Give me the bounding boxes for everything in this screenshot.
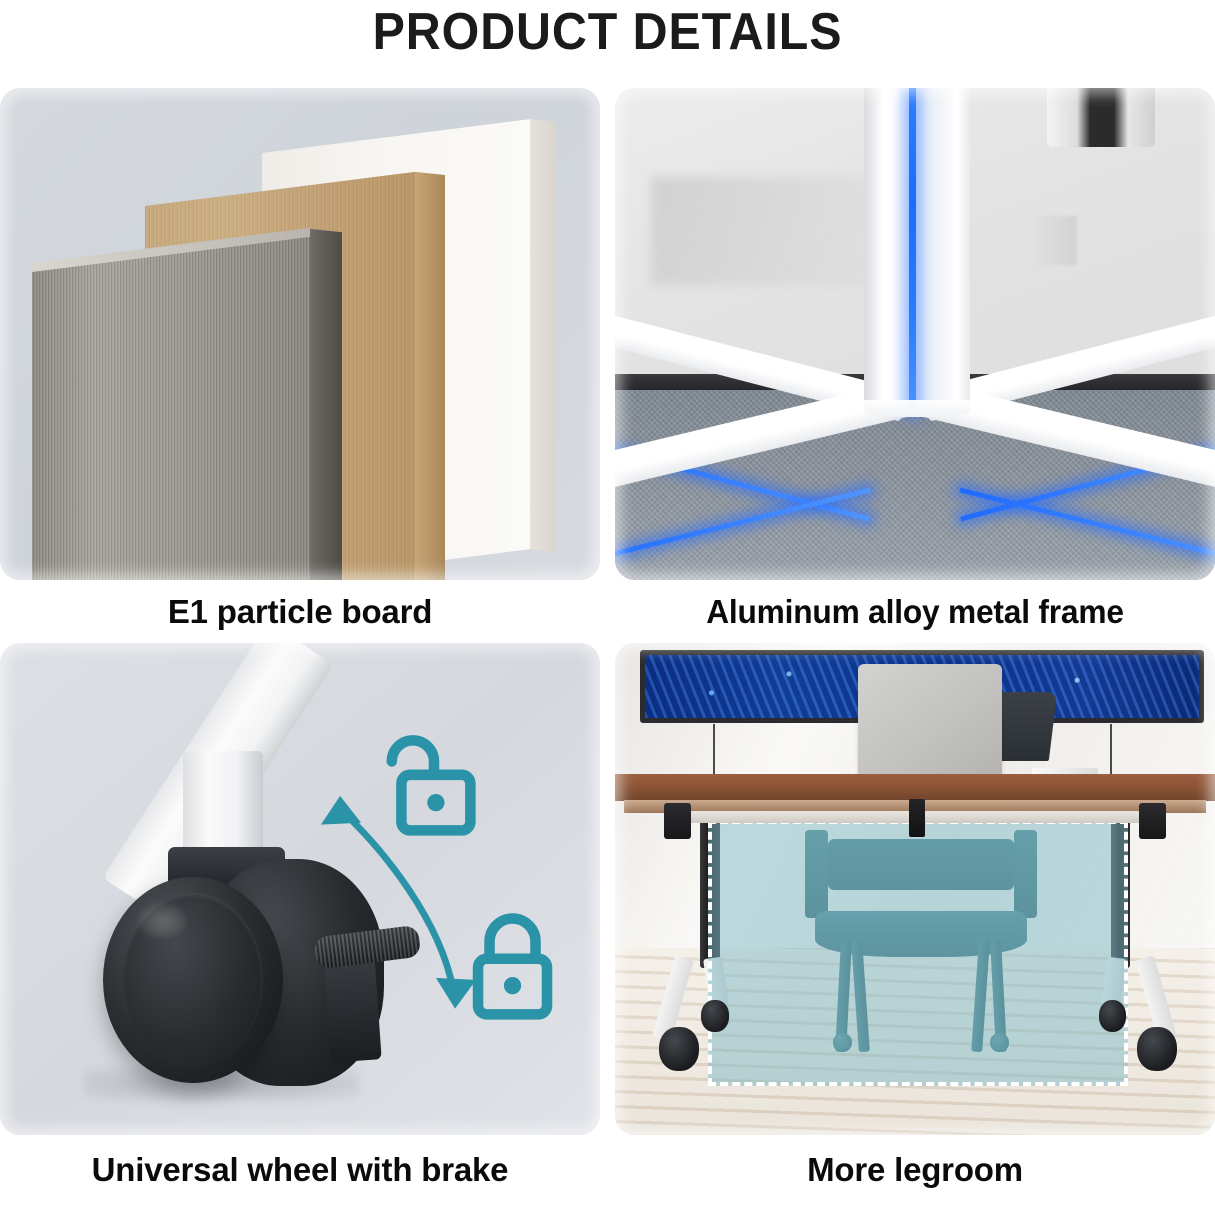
- oak-board-edge: [415, 172, 445, 580]
- caption-aluminum-frame: Aluminum alloy metal frame: [627, 580, 1203, 643]
- carpet-floor: [615, 390, 1215, 580]
- caption-more-legroom: More legroom: [615, 1135, 1215, 1205]
- panel-more-legroom: [615, 643, 1215, 1135]
- panel-particle-board: [0, 88, 600, 580]
- white-board-edge: [530, 119, 556, 552]
- unlock-icon: [392, 740, 471, 830]
- more-legroom-image: [615, 643, 1215, 1135]
- table-caster-left-rear: [701, 1000, 729, 1031]
- particle-board-image: [0, 88, 600, 580]
- vertical-column: [864, 88, 970, 413]
- panel-universal-wheel: [0, 643, 600, 1135]
- aluminum-frame-image: [615, 88, 1215, 580]
- desk-bracket-center: [909, 799, 925, 836]
- gray-woodgrain-board: [32, 229, 310, 580]
- table-caster-right: [1137, 1027, 1177, 1071]
- laptop: [858, 664, 1002, 777]
- wall-object: [1047, 88, 1155, 147]
- caption-universal-wheel: Universal wheel with brake: [0, 1135, 600, 1205]
- page-title: PRODUCT DETAILS: [43, 2, 1173, 62]
- universal-wheel-image: [0, 643, 600, 1135]
- gray-board-face: [32, 229, 310, 580]
- lock-icon: [478, 919, 547, 1015]
- gray-board-edge: [310, 229, 342, 580]
- caster-wheel-highlight: [138, 904, 186, 938]
- brake-lock-diagram: [312, 702, 600, 1066]
- legroom-highlight-zone: [708, 820, 1128, 1086]
- table-caster-left: [659, 1027, 699, 1071]
- desktop-surface: [615, 774, 1215, 802]
- table-caster-right-rear: [1099, 1000, 1127, 1031]
- column-base-cap: [864, 400, 970, 417]
- details-grid: E1 particle board Aluminum alloy metal f…: [0, 88, 1215, 1205]
- product-details-page: PRODUCT DETAILS: [0, 0, 1215, 1205]
- column-glow-line: [909, 88, 916, 413]
- desk-bracket-left: [664, 803, 690, 838]
- desk-bracket-right: [1139, 803, 1165, 838]
- wall-object-secondary: [1035, 216, 1077, 265]
- panel-aluminum-frame: [615, 88, 1215, 580]
- caption-particle-board: E1 particle board: [0, 580, 600, 643]
